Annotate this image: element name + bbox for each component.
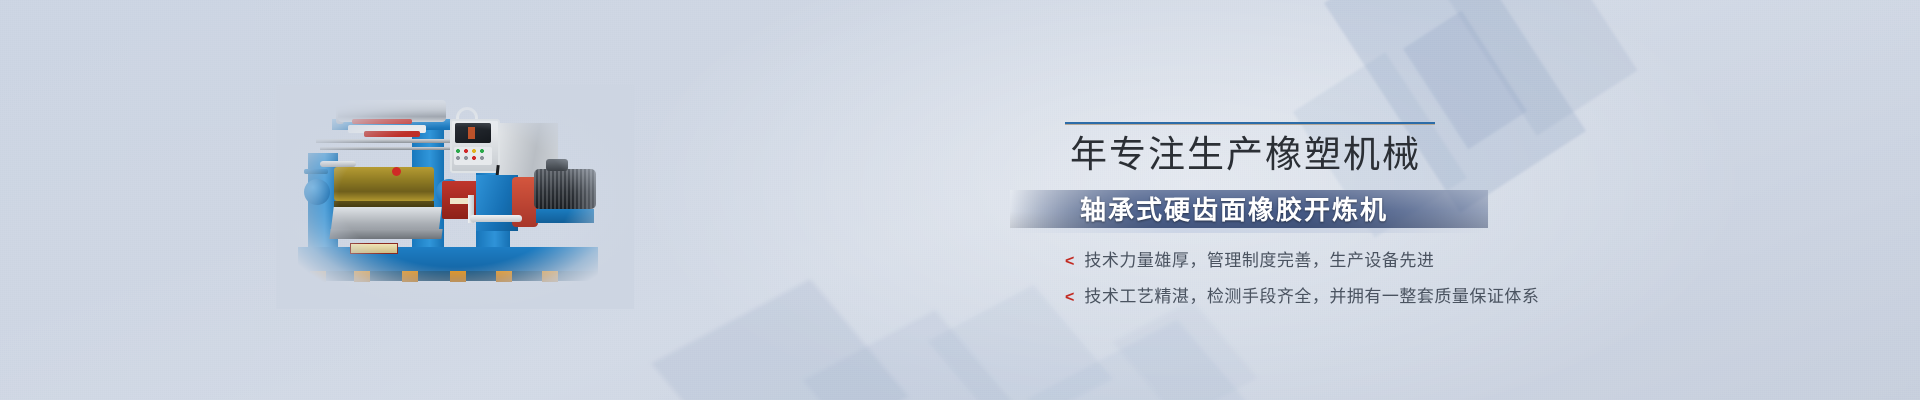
- subtitle-bar-shine: [1010, 228, 1488, 233]
- headline-rule: [1065, 122, 1435, 125]
- hero-banner: 年专注生产橡塑机械 轴承式硬齿面橡胶开炼机 < 技术力量雄厚，管理制度完善，生产…: [0, 0, 1920, 400]
- banner-text-block: 年专注生产橡塑机械 轴承式硬齿面橡胶开炼机 < 技术力量雄厚，管理制度完善，生产…: [0, 0, 1920, 400]
- feature-bullet-list: < 技术力量雄厚，管理制度完善，生产设备先进 < 技术工艺精湛，检测手段齐全，并…: [1065, 250, 1745, 322]
- feature-bullet-1: < 技术力量雄厚，管理制度完善，生产设备先进: [1065, 250, 1745, 272]
- banner-subtitle: 轴承式硬齿面橡胶开炼机: [1080, 196, 1600, 224]
- chevron-left-icon: <: [1065, 288, 1074, 308]
- feature-bullet-text: 技术工艺精湛，检测手段齐全，并拥有一整套质量保证体系: [1084, 286, 1539, 308]
- chevron-left-icon: <: [1065, 252, 1074, 272]
- feature-bullet-2: < 技术工艺精湛，检测手段齐全，并拥有一整套质量保证体系: [1065, 286, 1745, 308]
- feature-bullet-text: 技术力量雄厚，管理制度完善，生产设备先进: [1084, 250, 1434, 272]
- banner-headline: 年专注生产橡塑机械: [1070, 132, 1630, 178]
